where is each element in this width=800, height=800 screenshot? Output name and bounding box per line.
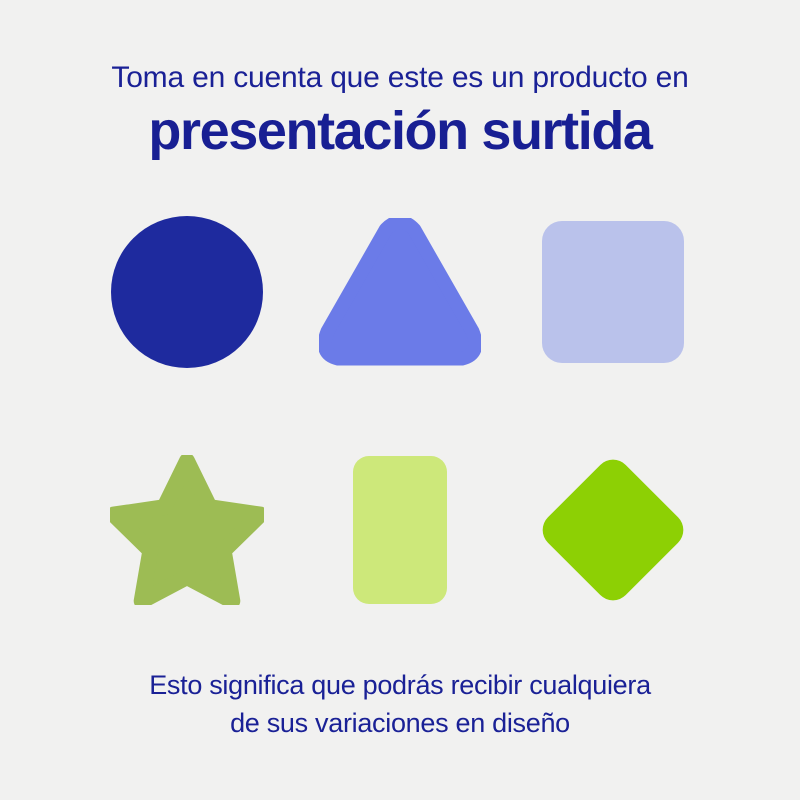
headline-block: Toma en cuenta que este es un producto e…: [0, 58, 800, 162]
shape-cell-rounded-rectangle: [293, 442, 506, 618]
footer-line-1: Esto significa que podrás recibir cualqu…: [0, 666, 800, 704]
shape-cell-diamond: [507, 442, 720, 618]
shape-cell-star: [80, 442, 293, 618]
shape-cell-circle: [80, 204, 293, 380]
rounded-square-shape: [542, 221, 684, 363]
headline-line-1: Toma en cuenta que este es un producto e…: [0, 58, 800, 98]
diamond-shape: [536, 452, 692, 608]
star-shape: [110, 455, 264, 605]
promo-poster: Toma en cuenta que este es un producto e…: [0, 0, 800, 800]
headline-line-2: presentación surtida: [0, 100, 800, 162]
triangle-shape: [319, 218, 481, 366]
shape-cell-triangle: [293, 204, 506, 380]
shapes-grid: [80, 204, 720, 618]
footer-line-2: de sus variaciones en diseño: [0, 704, 800, 742]
footer-block: Esto significa que podrás recibir cualqu…: [0, 666, 800, 742]
circle-shape: [111, 216, 263, 368]
rounded-rectangle-shape: [353, 456, 447, 604]
shape-cell-rounded-square: [507, 204, 720, 380]
